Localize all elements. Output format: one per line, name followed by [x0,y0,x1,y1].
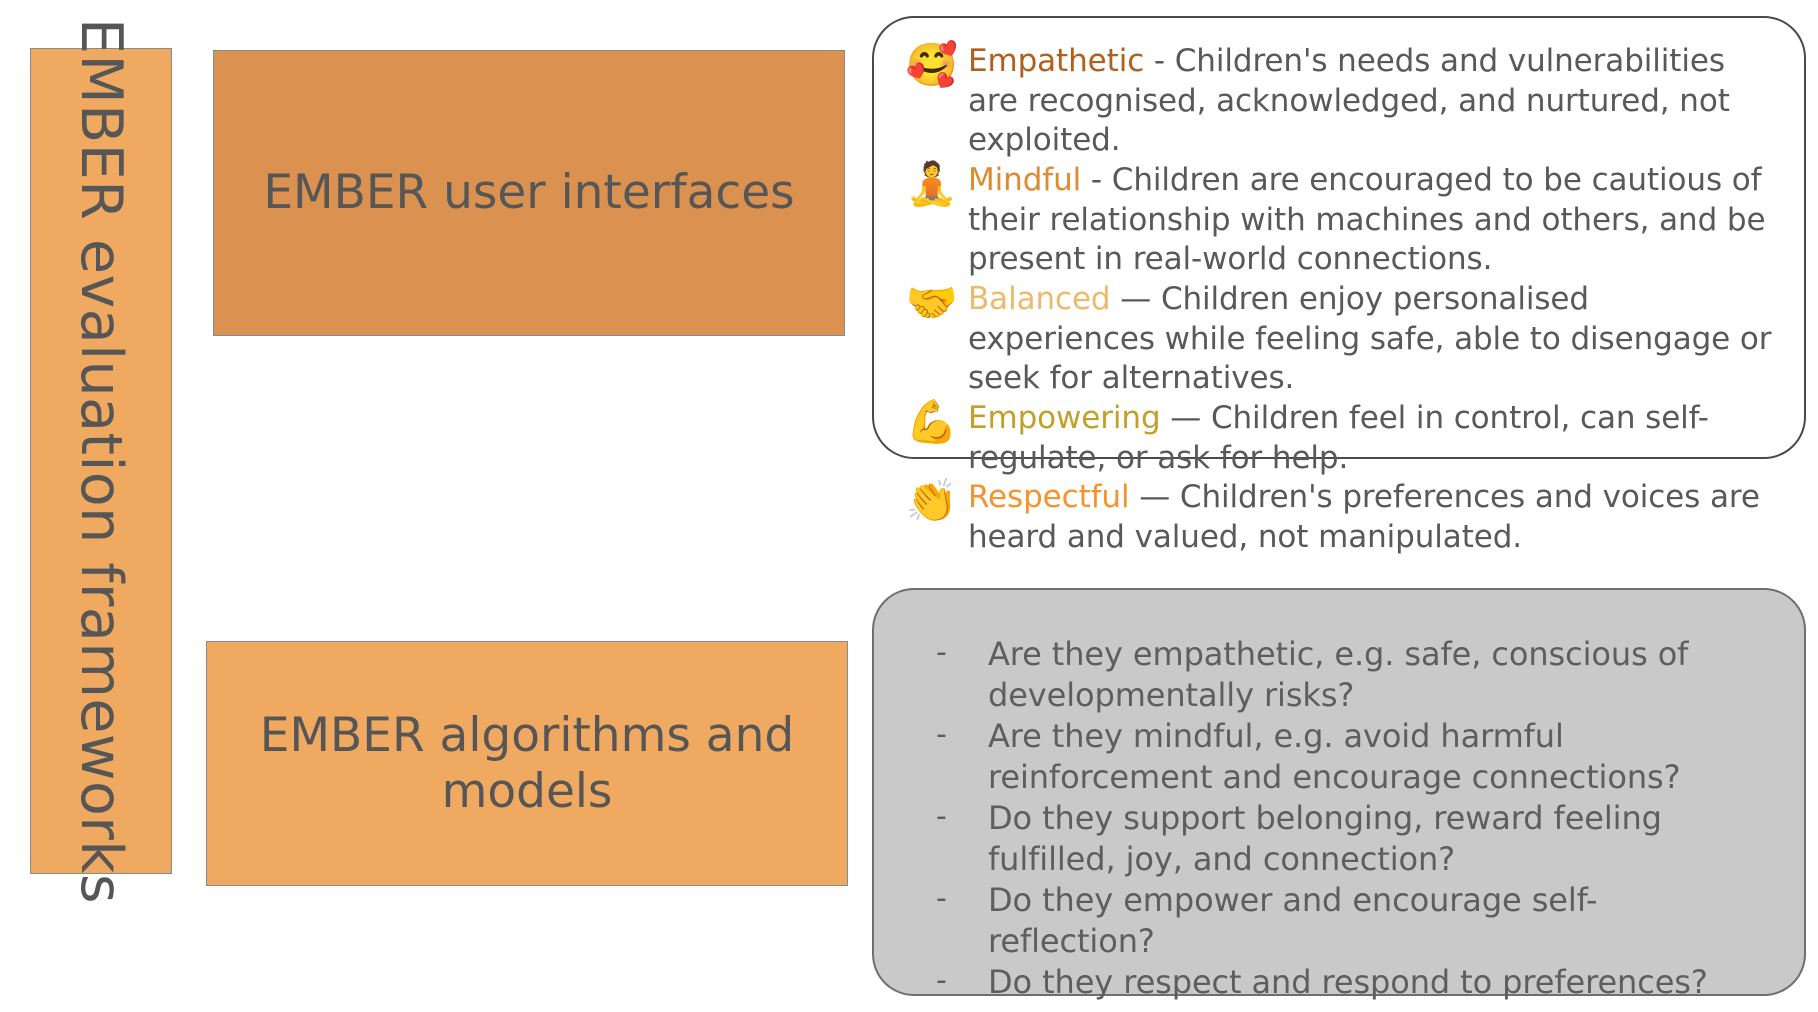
bullet-dash: - [936,634,988,672]
principle-text: Empathetic - Children's needs and vulner… [968,42,1774,161]
principle-text: Empowering — Children feel in control, c… [968,399,1774,478]
principle-separator: - [1081,162,1112,198]
principle-item: 🧘Mindful - Children are encouraged to be… [896,161,1774,280]
principle-text: Mindful - Children are encouraged to be … [968,161,1774,280]
process-box-ember-user-interfaces: EMBER user interfaces [213,50,845,336]
bullet-dash: - [936,798,988,836]
principle-separator: — [1161,400,1211,436]
principles-card: 🥰Empathetic - Children's needs and vulne… [872,16,1806,459]
sidebar-framework-band: EMBER evaluation frameworks [30,48,172,874]
clapping-hands-emoji: 👏 [896,478,968,523]
person-in-lotus-position-emoji: 🧘 [896,161,968,206]
principle-term: Empowering [968,400,1161,436]
evaluation-question-item: -Are they mindful, e.g. avoid harmful re… [936,716,1758,798]
process-box-algo-label: EMBER algorithms and models [233,708,821,819]
evaluation-questions-list: -Are they empathetic, e.g. safe, conscio… [874,590,1804,1003]
evaluation-question-item: -Do they support belonging, reward feeli… [936,798,1758,880]
bullet-dash: - [936,880,988,918]
principle-item: 🥰Empathetic - Children's needs and vulne… [896,42,1774,161]
principle-text: Balanced — Children enjoy personalised e… [968,280,1774,399]
principle-term: Balanced [968,281,1111,317]
evaluation-question-text: Do they empower and encourage self-refle… [988,880,1758,962]
process-box-ui-label: EMBER user interfaces [263,165,794,220]
principle-item: 👏Respectful — Children's preferences and… [896,478,1774,557]
principle-separator: — [1111,281,1161,317]
evaluation-question-text: Do they support belonging, reward feelin… [988,798,1758,880]
evaluation-question-text: Are they mindful, e.g. avoid harmful rei… [988,716,1758,798]
principles-list: 🥰Empathetic - Children's needs and vulne… [874,18,1804,558]
principle-term: Empathetic [968,43,1144,79]
evaluation-question-item: -Do they empower and encourage self-refl… [936,880,1758,962]
principle-term: Mindful [968,162,1081,198]
principle-text: Respectful — Children's preferences and … [968,478,1774,557]
process-box-ember-algorithms-and-models: EMBER algorithms and models [206,641,848,886]
principle-separator: - [1144,43,1175,79]
evaluation-questions-card: -Are they empathetic, e.g. safe, conscio… [872,588,1806,996]
evaluation-question-text: Do they respect and respond to preferenc… [988,962,1758,1003]
principle-item: 🤝Balanced — Children enjoy personalised … [896,280,1774,399]
principle-item: 💪Empowering — Children feel in control, … [896,399,1774,478]
evaluation-question-item: -Are they empathetic, e.g. safe, conscio… [936,634,1758,716]
bullet-dash: - [936,716,988,754]
flexed-biceps-emoji: 💪 [896,399,968,444]
handshake-emoji: 🤝 [896,280,968,325]
evaluation-question-item: -Do they respect and respond to preferen… [936,962,1758,1003]
bullet-dash: - [936,962,988,1000]
sidebar-framework-label: EMBER evaluation frameworks [68,18,134,904]
evaluation-question-text: Are they empathetic, e.g. safe, consciou… [988,634,1758,716]
principle-separator: — [1130,479,1180,515]
principle-term: Respectful [968,479,1130,515]
smiling-face-with-hearts-emoji: 🥰 [896,42,968,87]
